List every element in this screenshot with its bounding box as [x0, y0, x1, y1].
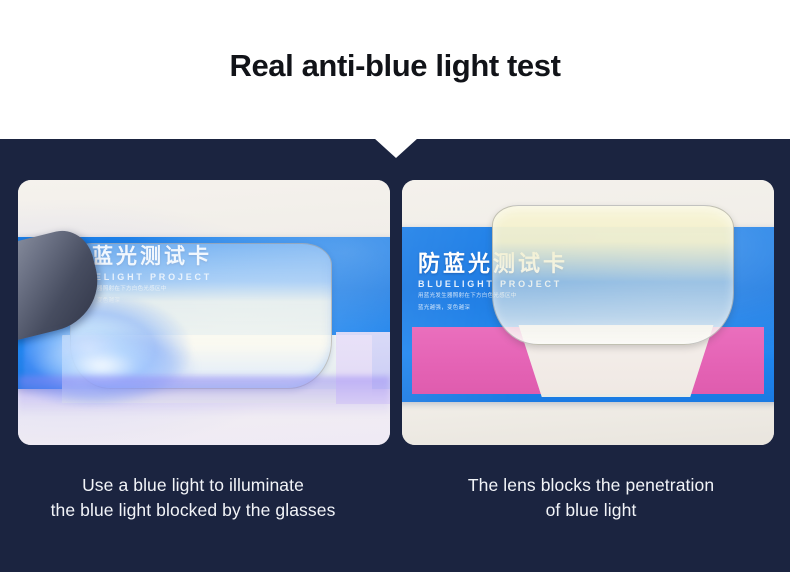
page-header: Real anti-blue light test — [0, 0, 790, 139]
demo-panel-right[interactable]: 防蓝光测试卡 BLUELIGHT PROJECT 用蓝光发生器照射在下方白色光感… — [402, 180, 774, 445]
eyeglass-lens — [70, 243, 332, 389]
bottom-white-strip — [0, 572, 790, 583]
caption-left: Use a blue light to illuminate the blue … — [0, 473, 386, 524]
demo-panel-left[interactable]: 防蓝光测试卡 BLUELIGHT PROJECT 用蓝光发生器照射在下方白色光感… — [18, 180, 390, 445]
caption-right: The lens blocks the penetration of blue … — [398, 473, 784, 524]
lavender-patch — [336, 332, 390, 404]
caption-right-line1: The lens blocks the penetration — [398, 473, 784, 498]
page-title: Real anti-blue light test — [0, 48, 790, 84]
caption-left-line1: Use a blue light to illuminate — [0, 473, 386, 498]
caption-right-line2: of blue light — [398, 498, 784, 523]
chevron-down-notch-icon — [374, 138, 418, 158]
eyeglass-lens — [492, 205, 734, 345]
caption-left-line2: the blue light blocked by the glasses — [0, 498, 386, 523]
